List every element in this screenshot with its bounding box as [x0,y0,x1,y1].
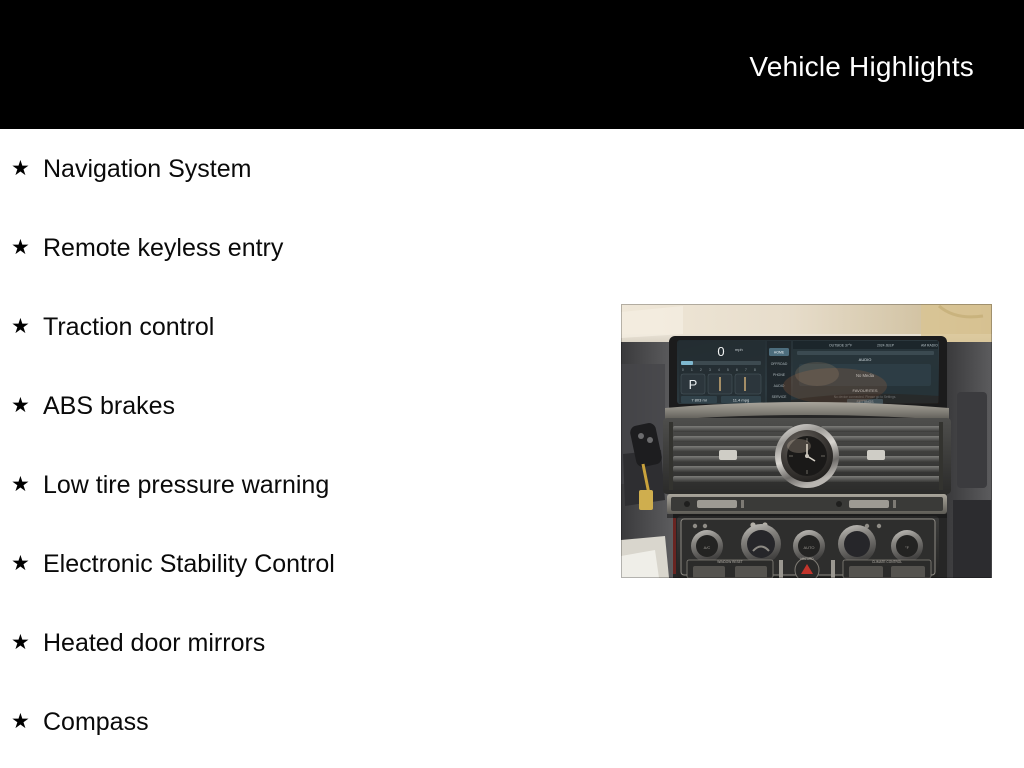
header-band: Vehicle Highlights [0,0,1024,129]
analog-clock [775,424,839,488]
feature-label: Low tire pressure warning [43,471,329,499]
star-icon: ★ [11,474,43,495]
svg-text:1: 1 [691,368,693,372]
star-icon: ★ [11,316,43,337]
svg-text:SERVICE: SERVICE [772,395,788,399]
list-item: ★ ABS brakes [0,366,600,445]
feature-label: Electronic Stability Control [43,550,335,578]
dashboard-illustration: 0 mph 012 345 678 P 7 803 mi 11.4 mpg [621,304,992,578]
svg-text:HAZARD: HAZARD [800,557,814,561]
svg-text:0: 0 [682,368,684,372]
star-icon: ★ [11,553,43,574]
switch-bank-row: WINDOW RESET CLIMATE CONTROL HAZARD [677,552,939,578]
svg-text:A/C: A/C [704,545,711,550]
star-icon: ★ [11,158,43,179]
svg-text:PHONE: PHONE [773,373,786,377]
page-title: Vehicle Highlights [749,51,974,83]
star-icon: ★ [11,395,43,416]
svg-text:4: 4 [718,368,720,372]
vehicle-highlights-list: ★ Navigation System ★ Remote keyless ent… [0,129,600,761]
svg-text:7 803 mi: 7 803 mi [691,398,706,403]
list-item: ★ Traction control [0,287,600,366]
feature-label: ABS brakes [43,392,175,420]
svg-text:7: 7 [745,368,747,372]
svg-text:AUTO: AUTO [803,545,814,550]
list-item: ★ Heated door mirrors [0,603,600,682]
lower-bezel-strip [667,494,947,514]
feature-label: Traction control [43,313,214,341]
svg-text:3: 3 [709,368,711,372]
svg-text:°F: °F [905,545,910,550]
feature-label: Remote keyless entry [43,234,283,262]
feature-label: Navigation System [43,155,251,183]
svg-text:AUDIO: AUDIO [859,357,872,362]
star-icon: ★ [11,632,43,653]
svg-text:0: 0 [717,344,724,359]
svg-text:OFFROAD: OFFROAD [771,362,788,366]
svg-text:5: 5 [727,368,729,372]
feature-label: Heated door mirrors [43,629,265,657]
star-icon: ★ [11,237,43,258]
vehicle-interior-photo: 0 mph 012 345 678 P 7 803 mi 11.4 mpg [621,304,992,578]
svg-text:OUTSIDE 37°F: OUTSIDE 37°F [829,344,852,348]
feature-label: Compass [43,708,149,736]
list-item: ★ Compass [0,682,600,761]
svg-text:6: 6 [736,368,738,372]
list-item: ★ Navigation System [0,129,600,208]
svg-text:WINDOW RESET: WINDOW RESET [717,560,743,564]
svg-text:CLIMATE CONTROL: CLIMATE CONTROL [872,560,902,564]
star-icon: ★ [11,711,43,732]
svg-text:2: 2 [700,368,702,372]
svg-text:HOME: HOME [774,351,785,355]
list-item: ★ Low tire pressure warning [0,445,600,524]
list-item: ★ Remote keyless entry [0,208,600,287]
svg-text:P: P [689,377,698,392]
list-item: ★ Electronic Stability Control [0,524,600,603]
infotainment-touchscreen: 0 mph 012 345 678 P 7 803 mi 11.4 mpg [677,340,939,404]
svg-text:8: 8 [754,368,756,372]
svg-text:11.4 mpg: 11.4 mpg [733,398,749,403]
svg-text:2024 JEEP: 2024 JEEP [877,344,895,348]
svg-text:AM RADIO: AM RADIO [921,344,938,348]
svg-text:mph: mph [735,347,743,352]
